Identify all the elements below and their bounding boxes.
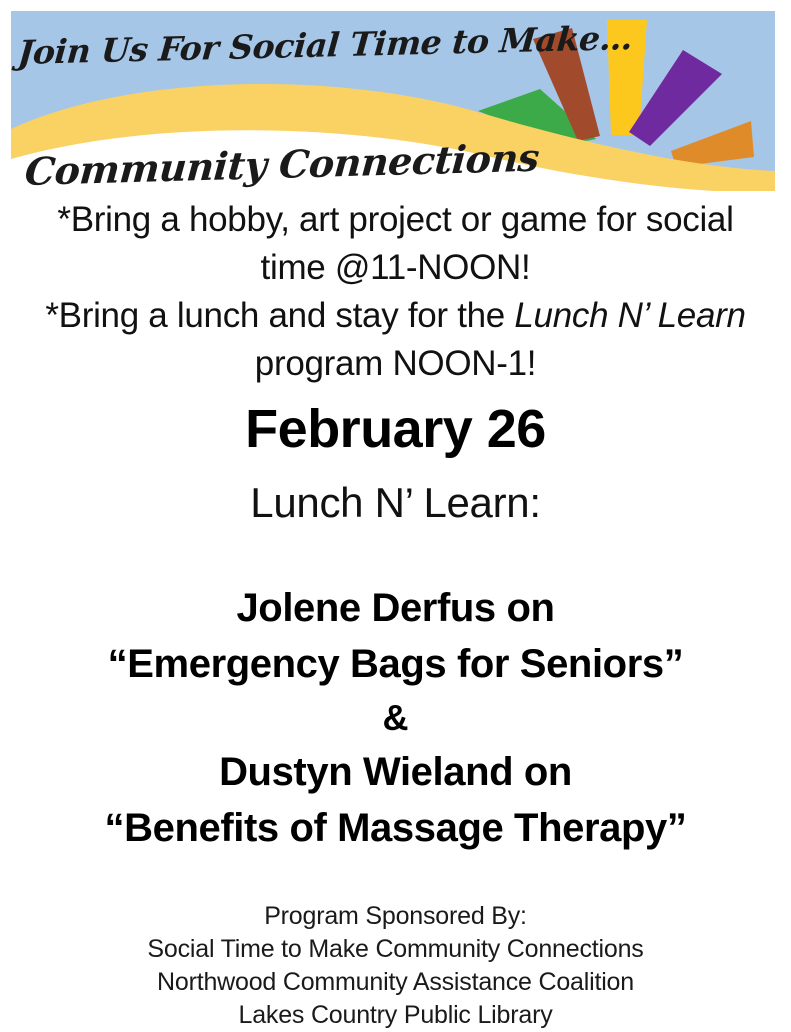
speakers-separator: &	[0, 692, 791, 744]
sponsor-item-2: Northwood Community Assistance Coalition	[0, 966, 791, 999]
intro-line-3: *Bring a lunch and stay for the Lunch N’…	[0, 292, 791, 340]
intro-line-3-program-name: Lunch N’ Learn	[514, 296, 745, 335]
flyer-page: Join Us For Social Time to Make… Communi…	[0, 0, 791, 1024]
sponsor-item-3: Lakes Country Public Library	[0, 999, 791, 1032]
intro-line-4: program NOON-1!	[0, 340, 791, 388]
sponsor-item-1: Social Time to Make Community Connection…	[0, 933, 791, 966]
header-banner: Join Us For Social Time to Make… Communi…	[11, 11, 775, 191]
speaker-2-name: Dustyn Wieland on	[0, 744, 791, 800]
intro-line-2: time @11-NOON!	[0, 244, 791, 292]
sponsors-block: Program Sponsored By: Social Time to Mak…	[0, 900, 791, 1032]
banner-graphic	[11, 11, 775, 191]
intro-line-1: *Bring a hobby, art project or game for …	[0, 196, 791, 244]
speaker-2-topic: “Benefits of Massage Therapy”	[0, 800, 791, 856]
speaker-1-name: Jolene Derfus on	[0, 580, 791, 636]
intro-line-3-prefix: *Bring a lunch and stay for the	[45, 296, 514, 335]
intro-text-block: *Bring a hobby, art project or game for …	[0, 196, 791, 388]
event-subtitle: Lunch N’ Learn:	[0, 478, 791, 528]
speakers-block: Jolene Derfus on “Emergency Bags for Sen…	[0, 580, 791, 856]
sponsors-heading: Program Sponsored By:	[0, 900, 791, 933]
speaker-1-topic: “Emergency Bags for Seniors”	[0, 636, 791, 692]
event-date: February 26	[0, 398, 791, 460]
